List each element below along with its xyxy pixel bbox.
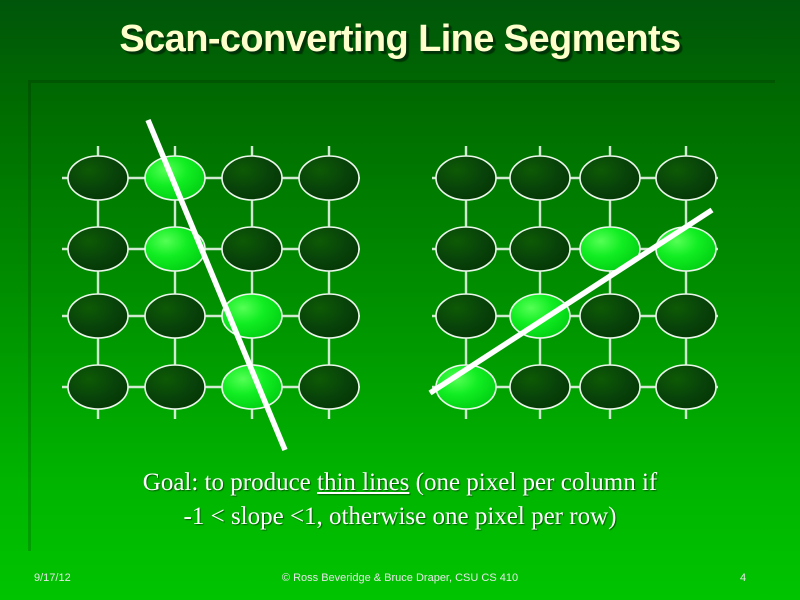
left-pixel-grid [62,120,360,450]
pixel-cell-off [436,156,496,200]
caption: Goal: to produce thin lines (one pixel p… [40,466,760,534]
pixel-cell-off [299,156,359,200]
footer-page-number: 4 [740,572,746,584]
pixel-cell-off [656,156,716,200]
pixel-cell-off [299,294,359,338]
pixel-cell-on [222,294,282,338]
pixel-cell-off [222,227,282,271]
pixel-cell-on [580,227,640,271]
pixel-cell-off [145,365,205,409]
pixel-cell-off [656,365,716,409]
steep-line-segment [148,120,285,450]
slide: Scan-converting Line Segments [0,0,800,600]
pixel-cell-on [436,365,496,409]
caption-part1: Goal: to produce [143,469,317,496]
pixel-cell-off [580,294,640,338]
caption-line2: -1 < slope <1, otherwise one pixel per r… [184,503,617,530]
pixel-cell-on [222,365,282,409]
page-title: Scan-converting Line Segments [0,18,800,61]
pixel-cell-on [656,227,716,271]
pixel-cell-off [299,227,359,271]
pixel-cell-off [222,156,282,200]
pixel-cell-off [68,365,128,409]
pixel-cell-off [510,156,570,200]
pixel-cell-on [145,156,205,200]
caption-part2: (one pixel per column if [409,469,657,496]
pixel-cell-off [68,227,128,271]
pixel-cell-off [145,294,205,338]
pixel-cell-off [299,365,359,409]
pixel-cell-off [436,227,496,271]
right-pixel-grid [430,146,718,419]
pixel-cell-off [436,294,496,338]
pixel-cell-on [510,294,570,338]
pixel-cell-on [145,227,205,271]
left-grid-lines [62,146,360,419]
right-grid-lines [432,146,718,419]
pixel-cell-off [656,294,716,338]
footer-copyright: © Ross Beveridge & Bruce Draper, CSU CS … [0,572,800,584]
pixel-cell-off [510,365,570,409]
pixel-cell-off [68,156,128,200]
pixel-cell-off [580,365,640,409]
pixel-cell-off [580,156,640,200]
shallow-line-segment [430,210,712,393]
pixel-cell-off [68,294,128,338]
pixel-cell-off [510,227,570,271]
caption-underlined-term: thin lines [317,469,409,496]
